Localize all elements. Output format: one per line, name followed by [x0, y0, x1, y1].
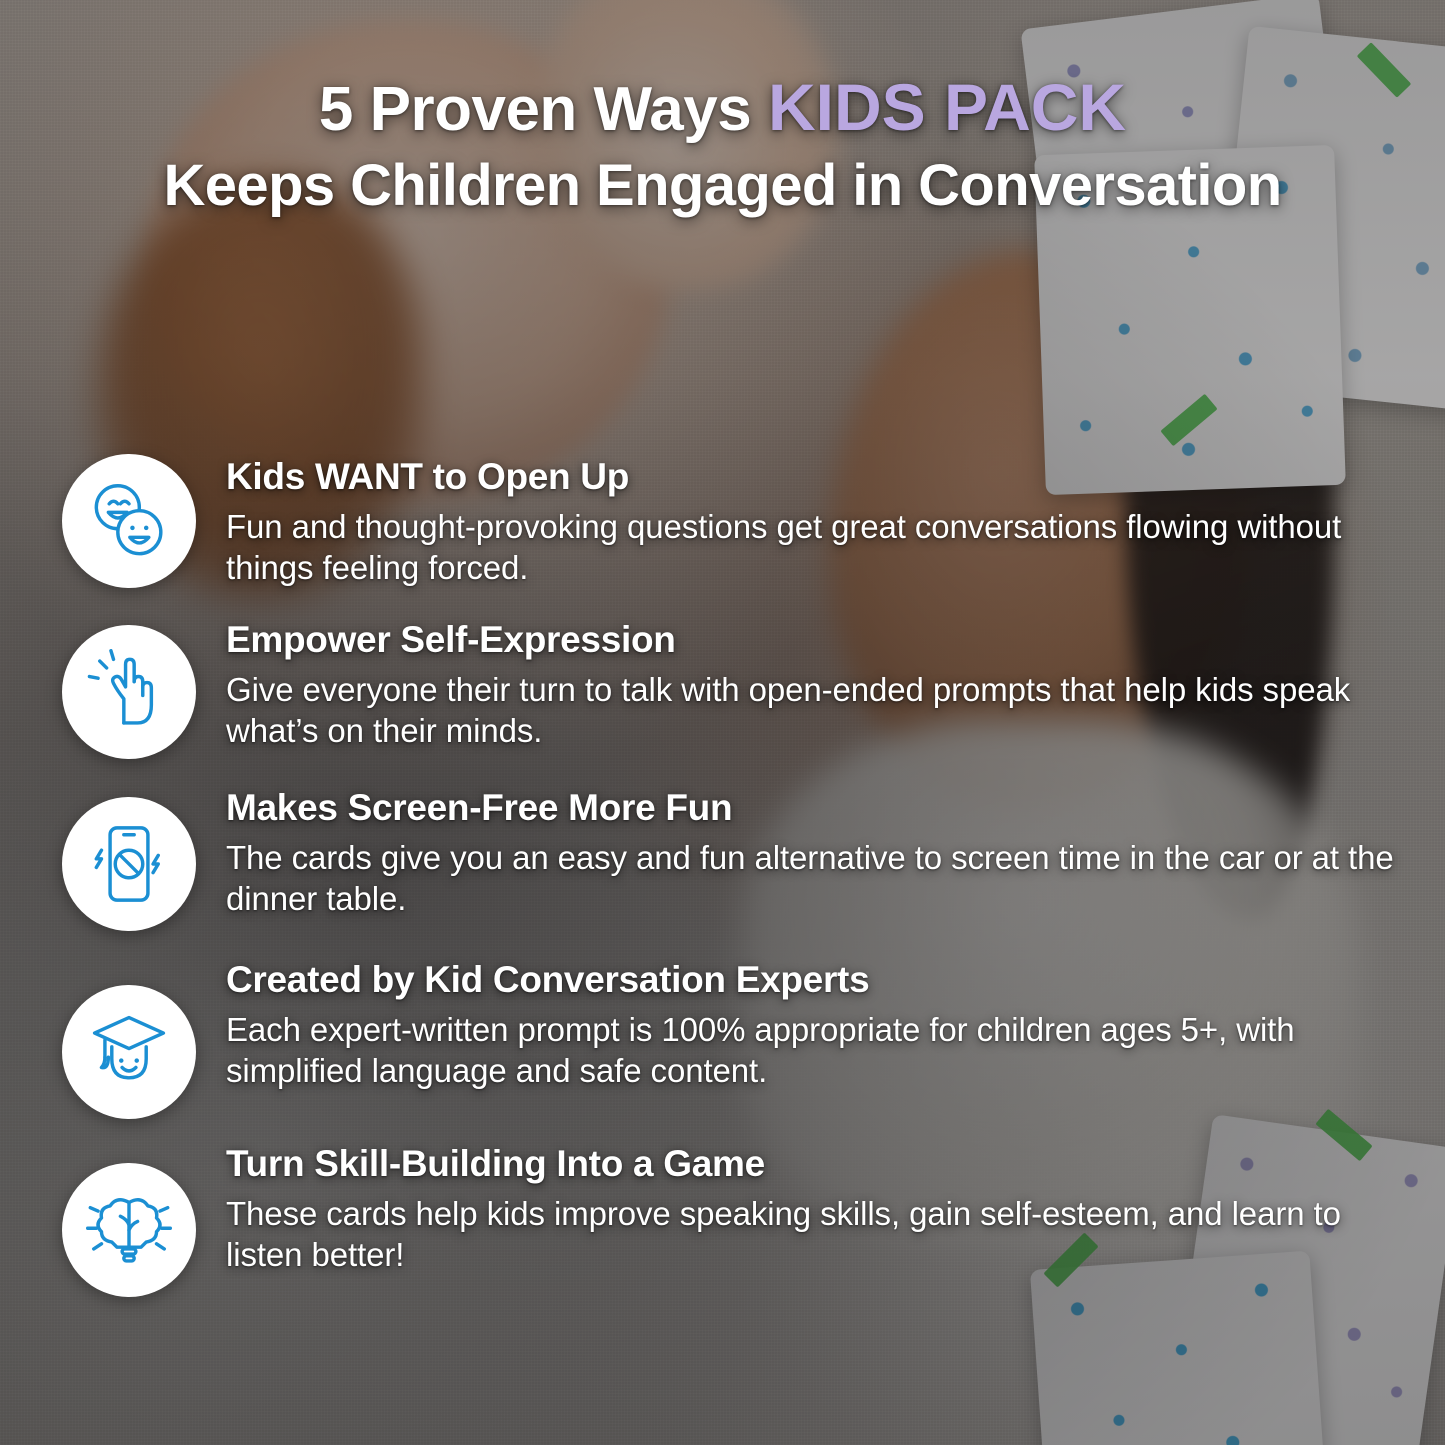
headline-block: 5 Proven Ways KIDS PACK Keeps Children E… — [0, 72, 1445, 218]
feature-title: Empower Self-Expression — [226, 619, 1401, 662]
feature-item: Makes Screen-Free More Fun The cards giv… — [62, 783, 1401, 931]
feature-item: Kids WANT to Open Up Fun and thought-pro… — [62, 452, 1401, 589]
feature-description: Fun and thought-provoking questions get … — [226, 507, 1401, 589]
feature-item: Empower Self-Expression Give everyone th… — [62, 615, 1401, 759]
feature-item: Created by Kid Conversation Experts Each… — [62, 955, 1401, 1119]
feature-list: Kids WANT to Open Up Fun and thought-pro… — [62, 452, 1401, 1297]
headline-primary: 5 Proven Ways — [319, 75, 751, 144]
headline-accent: KIDS PACK — [768, 70, 1126, 144]
headline-line-1: 5 Proven Ways KIDS PACK — [24, 72, 1421, 144]
feature-text: Kids WANT to Open Up Fun and thought-pro… — [226, 452, 1401, 589]
feature-title: Kids WANT to Open Up — [226, 456, 1401, 499]
feature-description: Give everyone their turn to talk with op… — [226, 670, 1401, 752]
no-phone-screen-icon — [62, 797, 196, 931]
feature-text: Created by Kid Conversation Experts Each… — [226, 955, 1401, 1092]
feature-description: The cards give you an easy and fun alter… — [226, 838, 1401, 920]
smiley-faces-icon — [62, 454, 196, 588]
poster-content: 5 Proven Ways KIDS PACK Keeps Children E… — [0, 0, 1445, 1445]
feature-title: Turn Skill-Building Into a Game — [226, 1143, 1401, 1186]
feature-description: These cards help kids improve speaking s… — [226, 1194, 1401, 1276]
feature-title: Created by Kid Conversation Experts — [226, 959, 1401, 1002]
high-five-hands-icon — [62, 625, 196, 759]
headline-line-2: Keeps Children Engaged in Conversation — [24, 154, 1421, 218]
feature-text: Empower Self-Expression Give everyone th… — [226, 615, 1401, 752]
feature-item: Turn Skill-Building Into a Game These ca… — [62, 1139, 1401, 1297]
feature-title: Makes Screen-Free More Fun — [226, 787, 1401, 830]
brain-lightbulb-icon — [62, 1163, 196, 1297]
graduate-face-icon — [62, 985, 196, 1119]
feature-text: Turn Skill-Building Into a Game These ca… — [226, 1139, 1401, 1276]
feature-description: Each expert-written prompt is 100% appro… — [226, 1010, 1401, 1092]
promo-poster: 5 Proven Ways KIDS PACK Keeps Children E… — [0, 0, 1445, 1445]
feature-text: Makes Screen-Free More Fun The cards giv… — [226, 783, 1401, 920]
